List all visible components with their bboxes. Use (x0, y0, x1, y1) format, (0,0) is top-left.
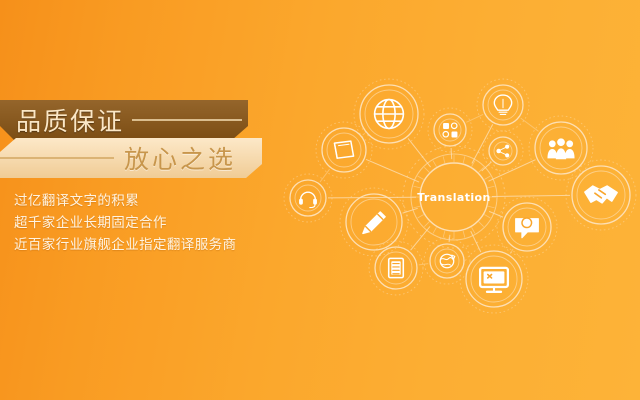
speech-bubble-icon (516, 218, 539, 238)
banner-tier1-content: 品质保证 (0, 100, 248, 140)
banner-tier2-label: 放心之选 (124, 140, 236, 176)
network-node-headset (284, 174, 332, 222)
quality-banner: 品质保证 放心之选 (0, 100, 268, 178)
translation-network-graphic: Translation (286, 72, 640, 322)
network-node-book (316, 122, 372, 178)
selling-point-2: 超千家企业长期固定合作 (14, 212, 314, 234)
pencil-icon (363, 212, 385, 234)
network-links (320, 114, 581, 265)
network-node-handshake (566, 160, 636, 230)
network-node-globe-arrows (424, 238, 470, 284)
apps-grid-icon (443, 123, 457, 137)
hub-label: Translation (417, 191, 491, 204)
network-node-apps-grid (428, 108, 472, 152)
network-node-lightbulb (477, 79, 529, 131)
promo-banner-slide: 品质保证 放心之选 过亿翻译文字的积累 超千家企业长期固定合作 近百家行业旗舰企… (0, 0, 640, 400)
share-nodes-icon (496, 145, 509, 158)
network-node-monitor (460, 245, 528, 313)
selling-points-list: 过亿翻译文字的积累 超千家企业长期固定合作 近百家行业旗舰企业指定翻译服务商 (14, 190, 314, 256)
globe-arrows-icon (440, 254, 455, 267)
selling-point-3: 近百家行业旗舰企业指定翻译服务商 (14, 234, 314, 256)
globe-icon (375, 100, 404, 129)
network-node-document (369, 241, 423, 295)
banner-tier1-rule (132, 119, 242, 121)
document-icon (389, 258, 404, 277)
banner-tier2-rule (0, 157, 114, 159)
network-node-share-nodes (483, 131, 523, 171)
lightbulb-icon (494, 95, 511, 114)
book-icon (334, 141, 353, 158)
network-node-speech-bubble (497, 197, 557, 257)
selling-point-1: 过亿翻译文字的积累 (14, 190, 314, 212)
network-node-globe (354, 79, 424, 149)
people-group-icon (547, 138, 574, 159)
monitor-icon (480, 268, 508, 292)
network-node-people-group (529, 116, 593, 180)
headset-icon (299, 192, 317, 207)
handshake-icon (585, 186, 617, 203)
banner-tier1-label: 品质保证 (16, 102, 124, 138)
banner-tier2-content: 放心之选 (0, 138, 258, 178)
